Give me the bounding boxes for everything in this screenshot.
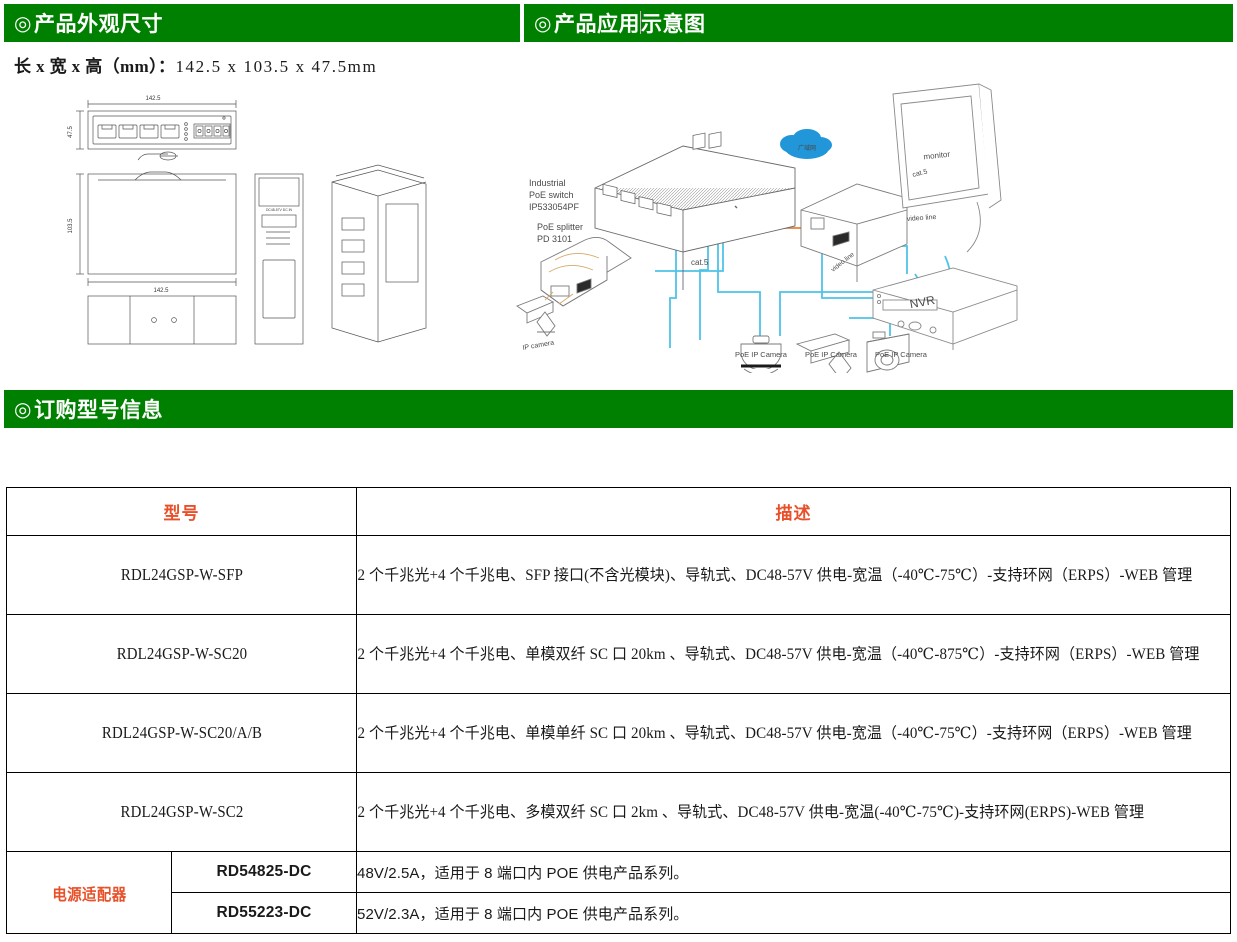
drawing-height-label: 47.5 — [68, 126, 74, 138]
section-title-application-part2: 示意图 — [641, 8, 706, 38]
adapter-model-name: RD54825-DC — [172, 852, 357, 893]
drawing-panel-text: DC48-57V DC IN — [266, 208, 293, 212]
model-description: 2 个千兆光+4 个千兆电、多模双纤 SC 口 2km 、导轨式、DC48-57… — [357, 773, 1205, 852]
application-topology-diagram: 广域网 — [515, 78, 1230, 373]
diagram-label-switch-line2: PoE switch — [529, 190, 574, 200]
section-header-application: ◎ 产品应用 示意图 — [524, 4, 1233, 42]
diagram-label-switch-line1: Industrial — [529, 178, 566, 188]
drawing-depth-label: 103.5 — [68, 218, 74, 234]
diamond-bullet-icon: ◎ — [534, 11, 552, 36]
diagram-label-video-line: video line — [907, 214, 937, 223]
diagram-label-poe-camera-2: PoE IP Camera — [805, 350, 858, 359]
diagram-label-cloud: 广域网 — [798, 144, 816, 152]
adapter-description: 48V/2.5A，适用于 8 端口内 POE 供电产品系列。 — [357, 852, 1231, 893]
table-header-description: 描述 — [357, 488, 1231, 536]
diagram-label-poe-camera-3: PoE IP Camera — [875, 350, 928, 359]
section-header-ordering: ◎ 订购型号信息 — [4, 390, 1233, 428]
table-row-adapter: 电源适配器 RD54825-DC 48V/2.5A，适用于 8 端口内 POE … — [7, 852, 1231, 893]
text-cursor-caret — [640, 11, 641, 34]
adapter-description: 52V/2.3A，适用于 8 端口内 POE 供电产品系列。 — [357, 893, 1231, 934]
dimension-value: 142.5 x 103.5 x 47.5mm — [175, 57, 377, 76]
model-name: RDL24GSP-W-SC20 — [24, 615, 339, 694]
model-description: 2 个千兆光+4 个千兆电、SFP 接口(不含光模块)、导轨式、DC48-57V… — [357, 536, 1205, 615]
model-name: RDL24GSP-W-SC2 — [24, 773, 339, 852]
section-title-application-part1: 产品应用 — [554, 8, 640, 38]
product-dimension-drawing: 142.5 47.5 103.5 142.5 DC48-57V DC IN — [30, 82, 500, 352]
dimension-label: 长 x 宽 x 高（mm）： — [14, 57, 175, 76]
power-adapter-group-label: 电源适配器 — [15, 852, 164, 934]
drawing-width-label: 142.5 — [145, 96, 161, 102]
diamond-bullet-icon: ◎ — [14, 11, 32, 36]
diagram-label-poe-camera-1: PoE IP Camera — [735, 350, 788, 359]
ordering-information-table: 型号 描述 RDL24GSP-W-SFP 2 个千兆光+4 个千兆电、SFP 接… — [6, 487, 1231, 934]
dimension-text-line: 长 x 宽 x 高（mm）：142.5 x 103.5 x 47.5mm — [14, 52, 377, 77]
section-title-dimensions: 产品外观尺寸 — [34, 8, 163, 38]
table-row: RDL24GSP-W-SC2 2 个千兆光+4 个千兆电、多模双纤 SC 口 2… — [7, 773, 1231, 852]
diamond-bullet-icon: ◎ — [14, 397, 32, 422]
model-name: RDL24GSP-W-SC20/A/B — [24, 694, 339, 773]
adapter-model-name: RD55223-DC — [172, 893, 357, 934]
table-row: RDL24GSP-W-SFP 2 个千兆光+4 个千兆电、SFP 接口(不含光模… — [7, 536, 1231, 615]
table-row: RDL24GSP-W-SC20 2 个千兆光+4 个千兆电、单模双纤 SC 口 … — [7, 615, 1231, 694]
diagram-label-cat5-mid: cat.5 — [691, 258, 709, 267]
model-description: 2 个千兆光+4 个千兆电、单模单纤 SC 口 20km 、导轨式、DC48-5… — [357, 694, 1205, 773]
table-header-model: 型号 — [7, 488, 357, 536]
diagram-label-splitter-line2: PD 3101 — [537, 234, 572, 244]
table-row: RDL24GSP-W-SC20/A/B 2 个千兆光+4 个千兆电、单模单纤 S… — [7, 694, 1231, 773]
section-header-dimensions: ◎ 产品外观尺寸 — [4, 4, 520, 42]
model-name: RDL24GSP-W-SFP — [24, 536, 339, 615]
model-description: 2 个千兆光+4 个千兆电、单模双纤 SC 口 20km 、导轨式、DC48-5… — [357, 615, 1205, 694]
diagram-label-ip-camera: IP camera — [522, 340, 555, 352]
drawing-bottom-width-label: 142.5 — [153, 288, 169, 294]
diagram-label-switch-line3: IP533054PF — [529, 202, 580, 212]
table-header-row: 型号 描述 — [7, 488, 1231, 536]
section-title-ordering: 订购型号信息 — [34, 394, 163, 424]
diagram-label-splitter-line1: PoE splitter — [537, 222, 583, 232]
table-row-adapter: RD55223-DC 52V/2.3A，适用于 8 端口内 POE 供电产品系列… — [7, 893, 1231, 934]
cloud-shape — [780, 129, 832, 159]
